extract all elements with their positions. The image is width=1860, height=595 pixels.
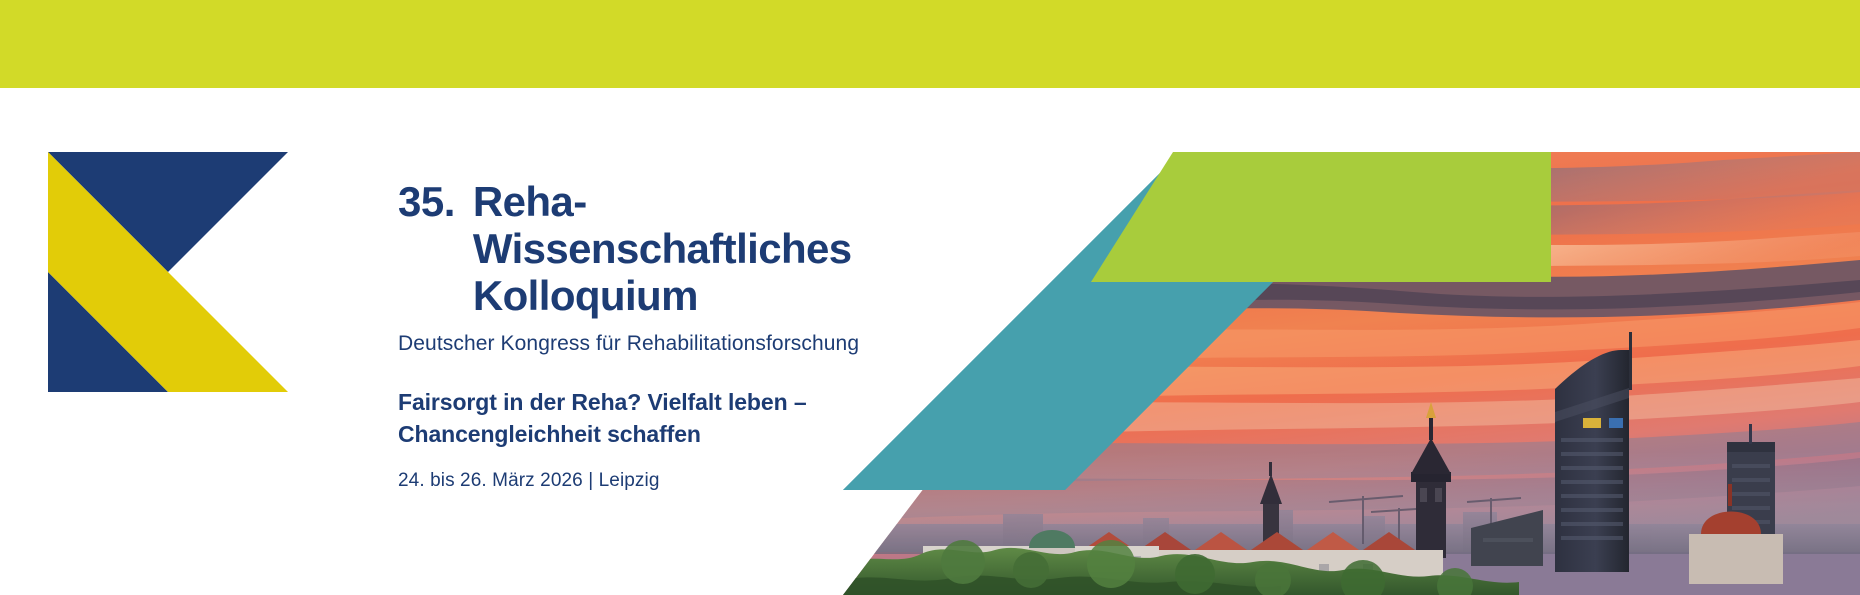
top-accent-bar [0, 0, 1860, 88]
hero-overlay-svg [843, 152, 1860, 595]
kolloquium-k-logo [48, 152, 288, 392]
tagline-line-2: Chancengleichheit schaffen [398, 421, 701, 447]
green-overlay-band [1091, 152, 1551, 282]
event-banner: 35. Reha-WissenschaftlichesKolloquium De… [0, 0, 1860, 595]
logo-svg [48, 152, 288, 392]
hero-graphic [843, 152, 1860, 490]
title-line-2: Kolloquium [473, 272, 698, 319]
title-line-1: Reha-Wissenschaftliches [473, 178, 852, 272]
edition-number: 35. [398, 178, 455, 225]
tagline-line-1: Fairsorgt in der Reha? Vielfalt leben – [398, 389, 807, 415]
